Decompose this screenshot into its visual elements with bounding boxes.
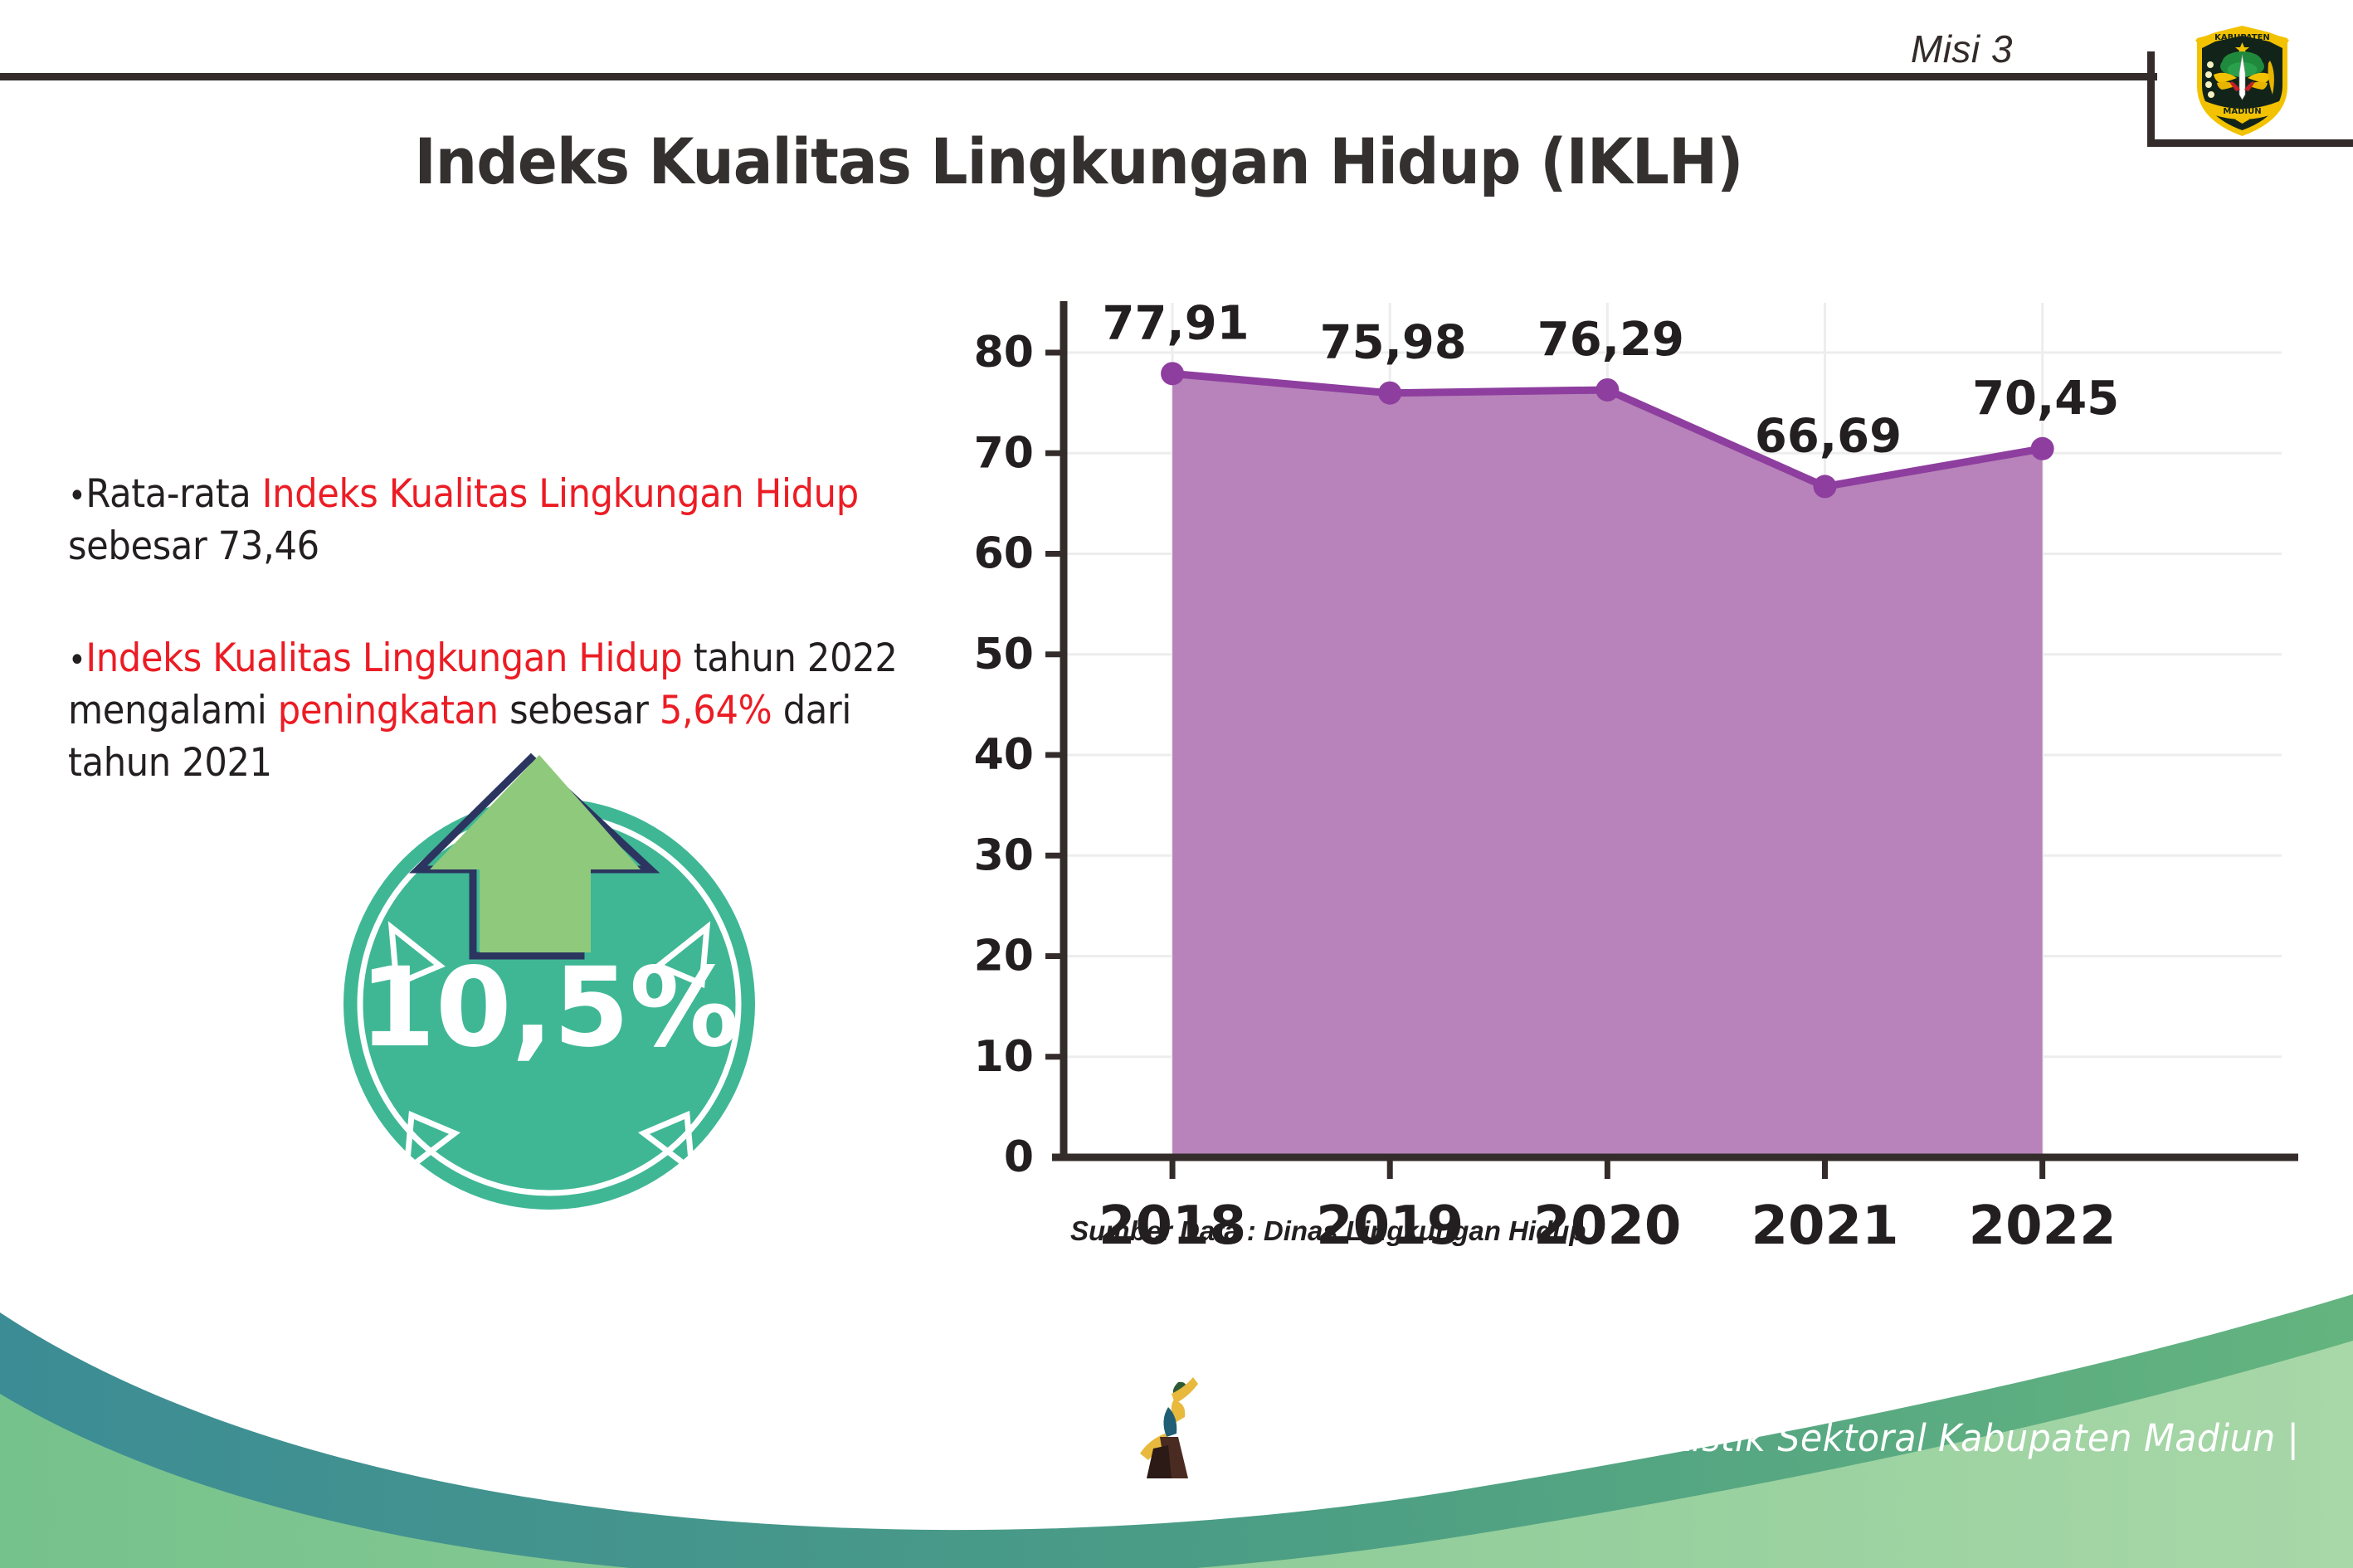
y-axis-label: 70 [974,428,1034,478]
bracket-vertical [2147,51,2155,147]
bullet-text-segment: Indeks Kualitas Lingkungan Hidup [262,471,859,517]
badge-value: 10,5% [359,944,739,1072]
y-axis-label: 60 [974,529,1034,579]
y-axis-label: 40 [974,730,1034,780]
data-label: 76,29 [1537,313,1684,367]
bullet-text-segment: Rata-rata [85,471,261,517]
bullet-text-segment: sebesar 73,46 [68,523,319,569]
growth-badge: 10,5% [317,747,782,1211]
infographic-canvas: Misi 3 KABUPATEN [0,0,2353,1568]
emblem-top-label: KABUPATEN [2214,33,2270,42]
area-fill [1172,373,2043,1157]
footer-wave: Media Infografis Data Statistik Sektoral… [0,1294,2353,1568]
bullet-dot: • [68,477,85,515]
bullet-text-segment: 5,64% [660,688,772,733]
data-label: 70,45 [1972,372,2119,426]
page-title: Indeks Kualitas Lingkungan Hidup (IKLH) [76,124,2082,198]
bullet-dot: • [68,641,85,679]
footer-caption: Media Infografis Data Statistik Sektoral… [1220,1416,2299,1460]
bullet-text-segment: peningkatan [278,688,499,733]
y-axis-label: 50 [974,630,1034,679]
iklh-area-chart: 010203040506070802018201920202021202277,… [954,274,2298,1278]
x-axis-label: 2022 [1969,1195,2117,1257]
misi-label: Misi 3 [1911,27,2013,71]
data-label: 75,98 [1320,316,1467,370]
y-axis-label: 30 [974,830,1034,880]
data-label: 77,91 [1103,296,1250,350]
data-label: 66,69 [1755,409,1902,463]
bullet-text-segment: sebesar [499,688,660,733]
y-axis-label: 80 [974,328,1034,377]
data-point-marker [1595,378,1619,402]
dancer-logo-icon [1135,1374,1218,1482]
bullet-text-segment: Indeks Kualitas Lingkungan Hidup [85,635,682,681]
bracket-horizontal [2147,139,2353,147]
y-axis-label: 0 [1004,1132,1034,1182]
kabupaten-madiun-emblem-icon: KABUPATEN MADIUN [2190,15,2294,139]
data-point-marker [1814,475,1837,498]
y-axis-label: 20 [974,932,1034,981]
data-point-marker [2031,437,2054,460]
data-point-marker [1378,382,1401,405]
bullet-item: •Rata-rata Indeks Kualitas Lingkungan Hi… [68,469,908,573]
highlight-bullets: •Rata-rata Indeks Kualitas Lingkungan Hi… [68,469,981,790]
x-axis-label: 2021 [1751,1195,1898,1257]
source-note: Sumber Data : Dinas Lingkungan Hidup [1070,1215,1586,1247]
header-rule [0,73,2157,80]
emblem-bottom-label: MADIUN [2223,107,2261,116]
data-point-marker [1161,362,1184,385]
y-axis-label: 10 [974,1032,1034,1082]
